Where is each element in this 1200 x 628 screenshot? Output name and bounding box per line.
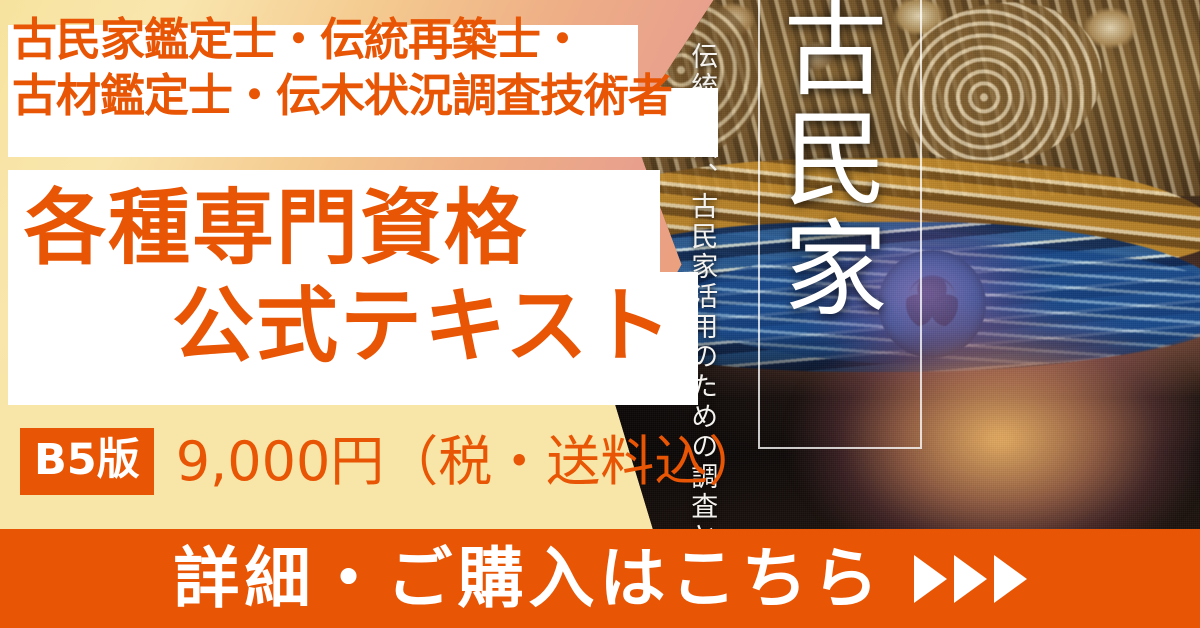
price-amount: 9,000円（税・送料込） — [176, 435, 763, 489]
chevron-right-icon — [914, 555, 947, 603]
chevron-right-icon — [994, 555, 1027, 603]
cta-button-bar[interactable]: 詳細・ご購入はこちら — [0, 529, 1200, 628]
headline-line-1: 各種専門資格 — [24, 188, 528, 270]
qualifications-line-1: 古民家鑑定士・伝統再築士・ — [12, 12, 584, 69]
price-row: B5版 9,000円（税・送料込） — [20, 428, 762, 495]
cta-arrows — [914, 555, 1027, 603]
chevron-right-icon — [954, 555, 987, 603]
promo-banner: 古民家 伝統構法、古民家活用のための調査と再生の 古民家鑑定士・伝統再築士・ 古… — [0, 0, 1200, 628]
headline-line-2: 公式テキスト — [172, 286, 674, 368]
format-badge: B5版 — [20, 428, 154, 495]
cover-title: 古民家 — [788, 0, 892, 324]
qualifications-line-2: 古材鑑定士・伝木状況調査技術者 — [12, 68, 718, 125]
cta-label: 詳細・ご購入はこちら — [174, 546, 884, 612]
